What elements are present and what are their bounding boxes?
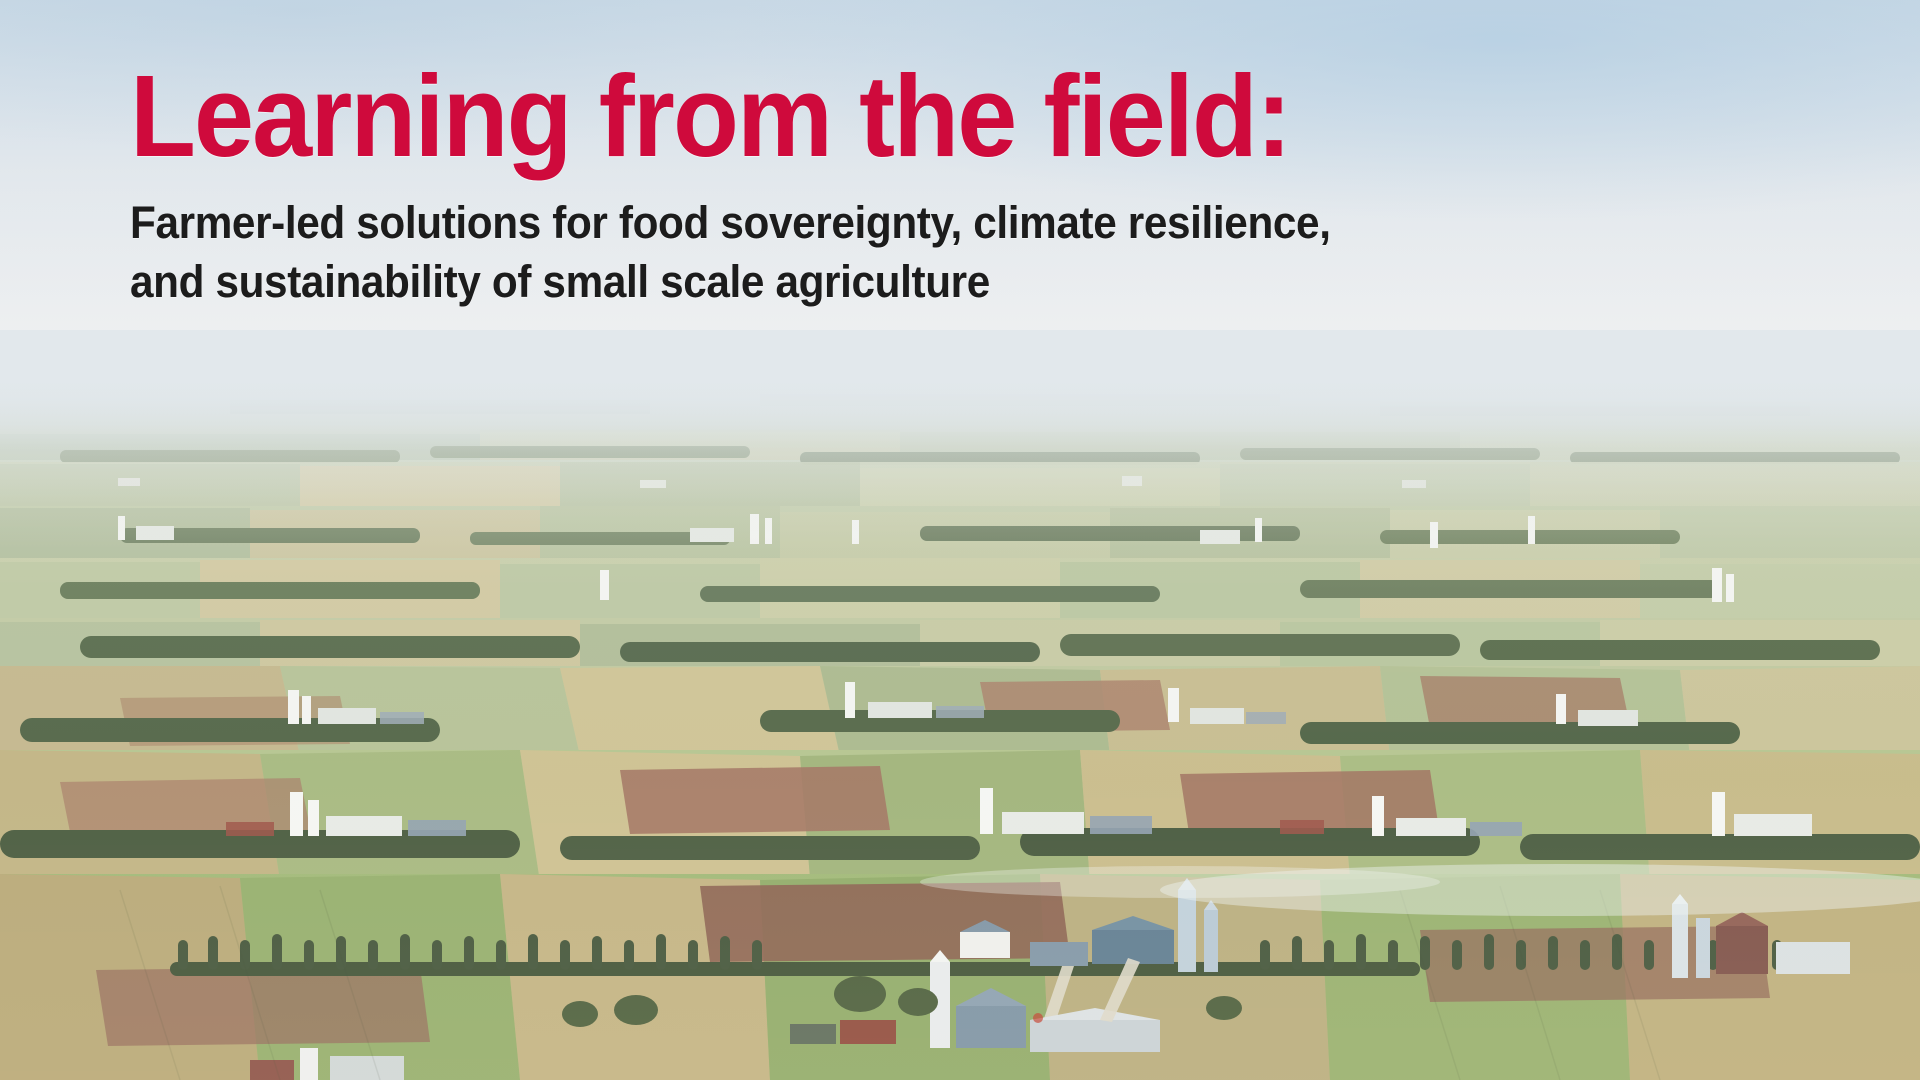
publication-cover-banner: Learning from the field: Farmer-led solu… (0, 0, 1920, 1080)
page-subtitle: Farmer-led solutions for food sovereignt… (130, 194, 1672, 311)
cover-text-block: Learning from the field: Farmer-led solu… (130, 58, 1770, 311)
page-title: Learning from the field: (130, 58, 1655, 174)
page-subtitle-line-1: Farmer-led solutions for food sovereignt… (130, 194, 1672, 253)
aerial-farmland-illustration (0, 330, 1920, 1080)
aerial-farmland-photo (0, 330, 1920, 1080)
page-subtitle-line-2: and sustainability of small scale agricu… (130, 253, 1672, 312)
